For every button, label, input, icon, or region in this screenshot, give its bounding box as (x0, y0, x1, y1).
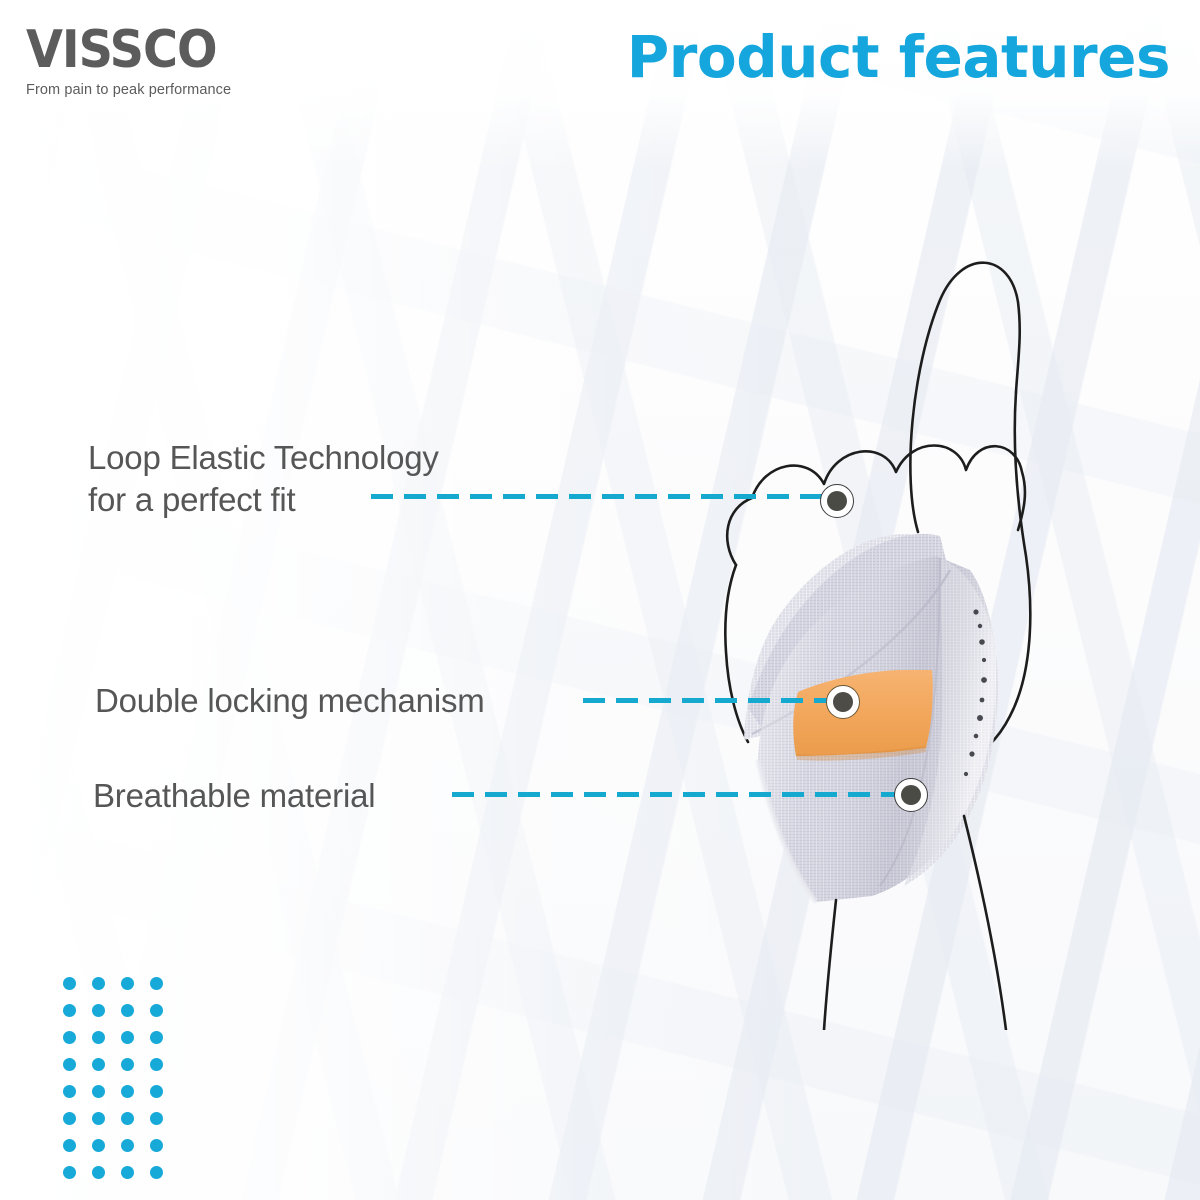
product-illustration (640, 240, 1100, 1030)
decorative-dot (150, 1085, 163, 1098)
decorative-dot (92, 1139, 105, 1152)
decorative-dot (63, 1031, 76, 1044)
decorative-dot (92, 1112, 105, 1125)
decorative-dot (121, 1139, 134, 1152)
decorative-dot (63, 1085, 76, 1098)
callout-marker-double-locking-mechanism[interactable] (826, 685, 860, 719)
decorative-dot (121, 1085, 134, 1098)
decorative-dot (63, 1004, 76, 1017)
decorative-dot (150, 1166, 163, 1179)
callout-marker-breathable-material[interactable] (894, 778, 928, 812)
decorative-dot (121, 1004, 134, 1017)
decorative-dot (150, 1031, 163, 1044)
feature-label-breathable-material: Breathable material (93, 775, 375, 817)
decorative-dot (150, 977, 163, 990)
brand-logo: VISSCO From pain to peak performance (26, 24, 326, 98)
decorative-dot (150, 1112, 163, 1125)
brand-tagline: From pain to peak performance (26, 83, 326, 98)
decorative-dot (92, 1031, 105, 1044)
decorative-dot (121, 1058, 134, 1071)
decorative-dot (92, 1058, 105, 1071)
decorative-dot (63, 1139, 76, 1152)
feature-label-loop-elastic-technology: Loop Elastic Technology for a perfect fi… (88, 437, 439, 521)
decorative-dot (63, 977, 76, 990)
leader-line-loop-elastic-technology (371, 494, 826, 499)
callout-marker-loop-elastic-technology[interactable] (820, 484, 854, 518)
decorative-dot (121, 977, 134, 990)
page-title: Product features (627, 26, 1170, 90)
infographic-canvas: VISSCO From pain to peak performance Pro… (0, 0, 1200, 1200)
decorative-dot (92, 1085, 105, 1098)
decorative-dot (92, 977, 105, 990)
decorative-dot (121, 1166, 134, 1179)
decorative-dot (92, 1166, 105, 1179)
decorative-dot (92, 1004, 105, 1017)
brand-logo-wordmark: VISSCO (26, 24, 332, 76)
leader-line-breathable-material (452, 792, 914, 797)
decorative-dot-grid (63, 977, 179, 1193)
feature-label-double-locking-mechanism: Double locking mechanism (95, 680, 485, 722)
decorative-dot (63, 1112, 76, 1125)
decorative-dot (150, 1004, 163, 1017)
decorative-dot (121, 1031, 134, 1044)
decorative-dot (63, 1166, 76, 1179)
decorative-dot (150, 1139, 163, 1152)
leader-line-double-locking-mechanism (583, 698, 845, 703)
decorative-dot (150, 1058, 163, 1071)
decorative-dot (63, 1058, 76, 1071)
decorative-dot (121, 1112, 134, 1125)
